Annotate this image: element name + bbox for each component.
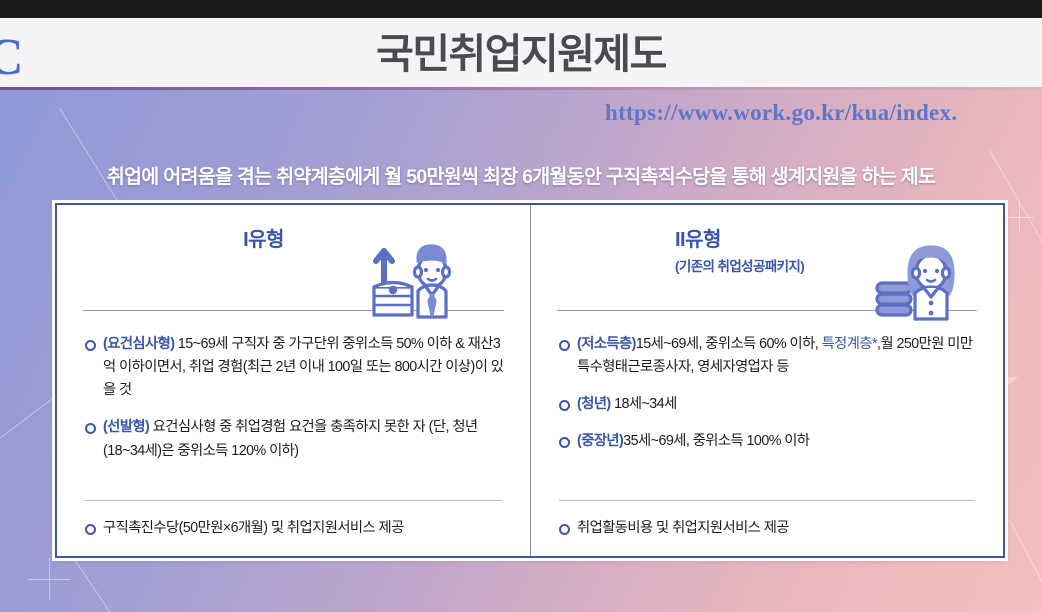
sparkle-icon [28,558,70,600]
item-text: 15세~69세, 중위소득 60% 이하, [636,336,822,352]
list-item-footer: 취업활동비용 및 취업지원서비스 제공 [557,517,977,540]
male-worker-with-up-arrow-and-money-icon [366,243,462,329]
section-divider [559,500,975,501]
item-text: 35세~69세, 중위소득 100% 이하 [623,433,809,449]
title-band: 국민취업지원제도 [0,18,1042,90]
spacer [83,477,504,498]
spacer [557,468,977,498]
list-item: (저소득층)15세~69세, 중위소득 60% 이하, 특정계층*,월 250만… [557,333,977,379]
female-worker-with-coins-icon [875,243,971,329]
item-label: (중장년) [577,433,623,449]
column-header: II유형 (기존의 취업성공패키지) [557,223,977,311]
decorative-streak [69,552,154,612]
decorative-streak [1009,520,1042,612]
types-comparison-card: I유형 [55,203,1005,558]
item-label: (저소득층) [577,336,636,352]
list-item-footer: 구직촉진수당(50만원×6개월) 및 취업지원서비스 제공 [83,517,504,540]
section-divider [85,500,502,501]
column-type-1: I유형 [57,205,530,556]
top-black-bar [0,0,1042,18]
partial-letter-glyph: C [0,32,24,84]
column-type-2: II유형 (기존의 취업성공패키지) [530,205,1003,556]
item-label-secondary: 특정계층* [822,336,877,352]
list-item: (중장년)35세~69세, 중위소득 100% 이하 [557,430,977,453]
item-text: 요건심사형 중 취업경험 요건을 충족하지 못한 자 (단, 청년(18~34세… [103,419,478,458]
item-label: (청년) [577,396,611,412]
column-body: (저소득층)15세~69세, 중위소득 60% 이하, 특정계층*,월 250만… [557,311,977,540]
footer-text: 구직촉진수당(50만원×6개월) 및 취업지원서비스 제공 [103,520,404,536]
program-description: 취업에 어려움을 겪는 취약계층에게 월 50만원씩 최장 6개월동안 구직촉직… [0,160,1042,189]
column-header: I유형 [83,223,504,311]
list-item: (청년) 18세~34세 [557,393,977,416]
page-title: 국민취업지원제도 [376,34,666,75]
item-label: (요건심사형) [103,336,174,352]
sparkle-icon [1004,202,1034,232]
footer-text: 취업활동비용 및 취업지원서비스 제공 [577,520,789,536]
column-body: (요건심사형) 15~69세 구직자 중 가구단위 중위소득 50% 이하 & … [83,311,504,540]
item-text: 18세~34세 [611,396,677,412]
list-item: (선발형) 요건심사형 중 취업경험 요건을 충족하지 못한 자 (단, 청년(… [83,416,504,462]
list-item: (요건심사형) 15~69세 구직자 중 가구단위 중위소득 50% 이하 & … [83,333,504,402]
item-label: (선발형) [103,419,149,435]
website-url[interactable]: https://www.work.go.kr/kua/index. [605,100,957,126]
